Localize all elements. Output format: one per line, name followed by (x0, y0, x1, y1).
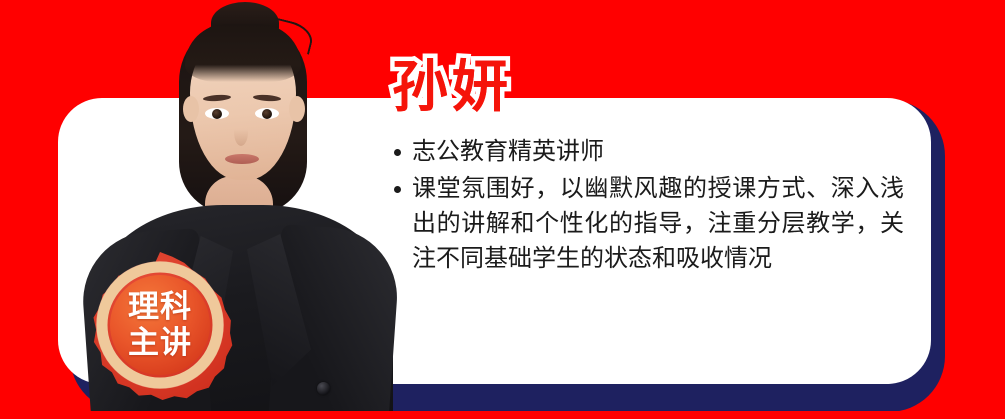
bottom-red-bar (0, 411, 1005, 419)
eye-left (205, 108, 229, 119)
suit-button-2 (317, 382, 330, 395)
ear-left (183, 96, 199, 122)
pupil-left (212, 109, 222, 119)
instructor-profile-poster: 理科 主讲 孙妍 孙妍 志公教育精英讲师 课堂氛围好，以幽默风趣的授课方式、深入… (0, 0, 1005, 419)
list-item: 课堂氛围好，以幽默风趣的授课方式、深入浅出的讲解和个性化的指导，注重分层教学，关… (392, 171, 904, 276)
pupil-right (262, 109, 272, 119)
ear-right (289, 96, 305, 122)
mouth (225, 154, 259, 164)
instructor-name: 孙妍 (392, 42, 512, 123)
instructor-bio-list: 志公教育精英讲师 课堂氛围好，以幽默风趣的授课方式、深入浅出的讲解和个性化的指导… (392, 134, 904, 278)
badge-scallop-icon (85, 250, 235, 400)
hair-fringe (185, 24, 301, 82)
subject-badge-seal: 理科 主讲 (85, 250, 235, 400)
eye-right (255, 108, 279, 119)
list-item: 志公教育精英讲师 (392, 134, 904, 169)
nose (234, 118, 248, 146)
